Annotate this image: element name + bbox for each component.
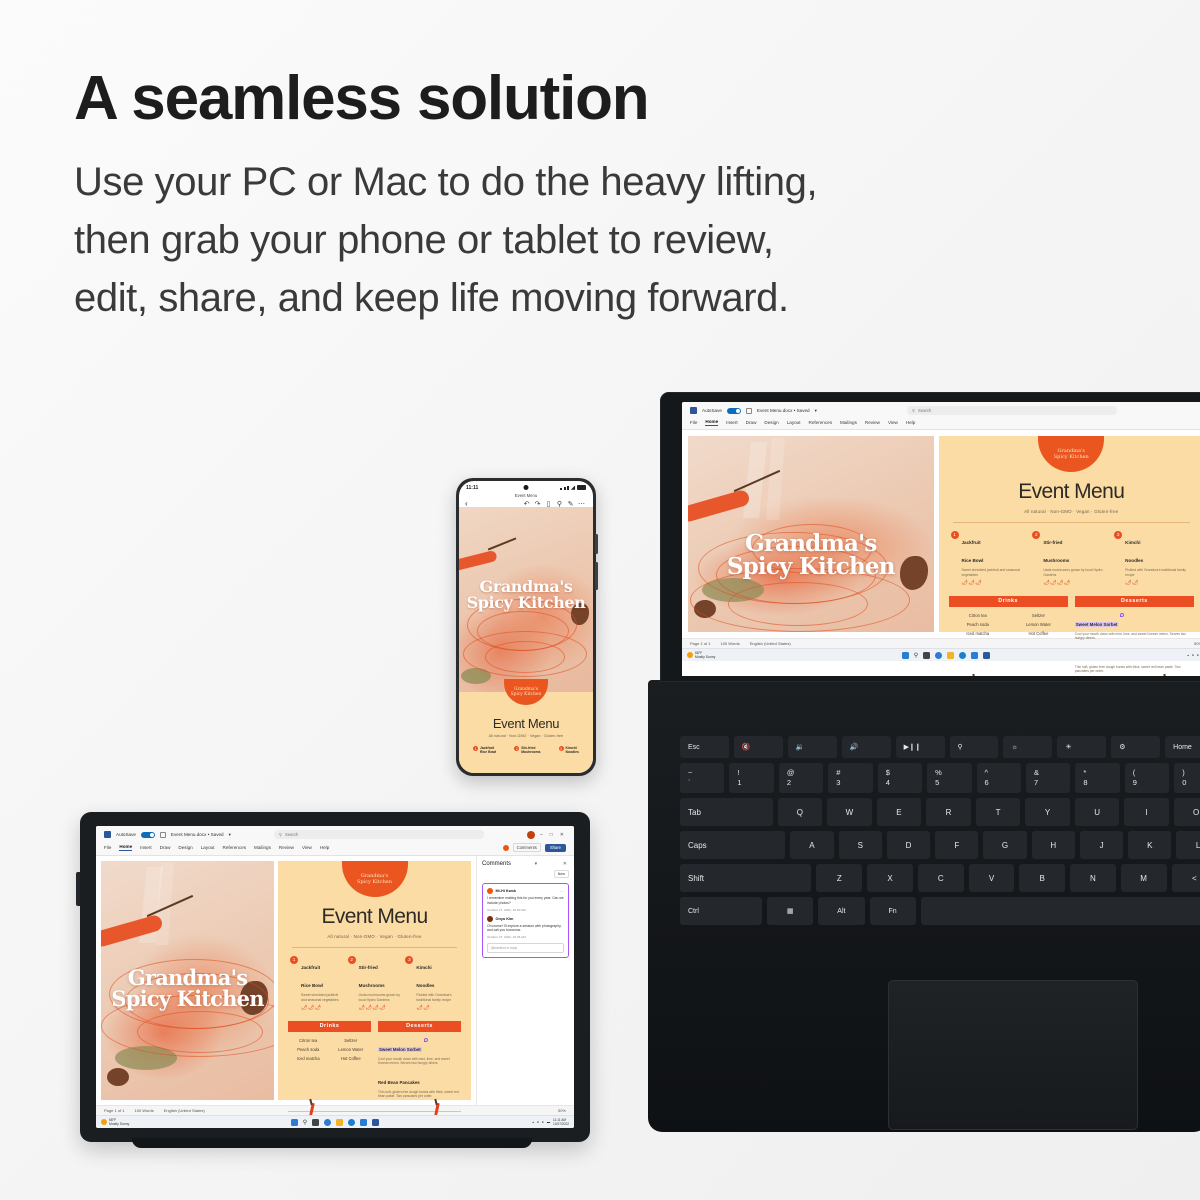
key-4[interactable]: $4 — [878, 763, 922, 793]
cover-title-line1: Grandma's — [688, 532, 934, 555]
tab-draw[interactable]: Draw — [160, 845, 171, 850]
phone-screen: 11:11 ◢ Event Menu ‹ ↶ ↷ ▯ ⚲ ✎ ⋯ — [459, 481, 593, 773]
document-name[interactable]: Event Menu.docx • Saved — [757, 408, 810, 413]
key-1[interactable]: !1 — [729, 763, 773, 793]
list-item: 2 Stir-friedMushrooms Usda mushrooms gro… — [1032, 531, 1110, 586]
tab-layout[interactable]: Layout — [787, 420, 801, 425]
key-y[interactable]: Y — [1025, 798, 1070, 826]
comment-thread[interactable]: Mi-Hi Kwok ⋯ I remember making this for … — [482, 883, 569, 958]
key-i[interactable]: I — [1124, 798, 1169, 826]
close-icon[interactable]: ✕ — [563, 861, 569, 867]
list-item: 1 JackfruitRice Bowl — [473, 746, 496, 755]
hero-text-block: A seamless solution Use your PC or Mac t… — [74, 66, 1034, 327]
divider — [953, 522, 1191, 523]
weather-desc: Mostly Sunny — [109, 1122, 129, 1126]
menu-title: Event Menu — [459, 716, 593, 731]
key-s[interactable]: S — [839, 831, 882, 859]
autosave-toggle[interactable] — [141, 832, 155, 838]
key-8[interactable]: *8 — [1075, 763, 1119, 793]
zoom-level[interactable]: 50% — [1194, 641, 1200, 646]
search-icon: ⚲ — [912, 408, 915, 413]
key-x[interactable]: X — [867, 864, 913, 892]
system-tray[interactable]: ▴ ● ● ▬ — [1187, 653, 1200, 657]
comment-anchor-icon[interactable] — [424, 1038, 428, 1042]
network-icon[interactable]: ● — [537, 1120, 539, 1124]
word-logo-icon — [690, 407, 697, 414]
word-document-canvas[interactable]: Grandma's Spicy Kitchen Grandma's Spicy … — [682, 430, 1200, 638]
keyboard-row-numbers: ~`!1@2#3$4%5^6&7*8(9)0—- — [680, 763, 1200, 793]
tab-insert[interactable]: Insert — [140, 845, 152, 850]
collaborator-avatar[interactable] — [503, 845, 509, 851]
list-item: Iced matcha — [288, 1056, 329, 1061]
key-esc[interactable]: Esc — [680, 736, 729, 758]
key-n[interactable]: N — [1070, 864, 1116, 892]
key-play-pause[interactable]: ▶❙❙ — [896, 736, 945, 758]
signal-bars-icon — [560, 486, 569, 490]
brand-badge: Grandma's Spicy Kitchen — [504, 679, 548, 705]
dish-heat-rating: 🌶🌶 — [1125, 580, 1192, 586]
list-item: 2 Stir-friedMushrooms — [514, 746, 540, 755]
reply-timestamp: October 27, 2022, 10:45 AM — [487, 935, 564, 939]
key-mute[interactable]: 🔇 — [734, 736, 783, 758]
key-alt[interactable]: Alt — [818, 897, 864, 925]
key-g[interactable]: G — [983, 831, 1026, 859]
window-controls: – □ ✕ — [527, 831, 566, 839]
keyboard-row-function: Esc🔇🔉🔊▶❙❙⚲☼☀⚙HomeEnd — [680, 736, 1200, 758]
autosave-label: AutoSave — [702, 408, 722, 413]
list-item: 2 Stir-friedMushrooms Usda mushrooms gro… — [348, 956, 402, 1011]
laptop-base: Esc🔇🔉🔊▶❙❙⚲☼☀⚙HomeEnd~`!1@2#3$4%5^6&7*8(9… — [648, 680, 1200, 1132]
dish-number: 1 — [951, 531, 959, 539]
store-icon[interactable] — [360, 1119, 367, 1126]
key-m[interactable]: M — [1121, 864, 1167, 892]
close-button[interactable]: ✕ — [560, 832, 566, 838]
file-explorer-icon[interactable] — [336, 1119, 343, 1126]
dish-number: 2 — [1032, 531, 1040, 539]
drinks-heading: Drinks — [949, 596, 1068, 607]
drinks-column: Drinks Citron tea Seltzer Peach soda Lem… — [949, 596, 1068, 674]
dessert-description: Cool your mouth down with mint, lime, an… — [1075, 632, 1194, 641]
list-item: Citron tea — [949, 613, 1008, 618]
key-5[interactable]: %5 — [927, 763, 971, 793]
list-item: Iced matcha — [949, 631, 1008, 636]
autosave-label: AutoSave — [116, 832, 136, 837]
dish-description: Usda mushrooms grown by local Hydro Gard… — [359, 993, 402, 1002]
laptop-screen: AutoSave Event Menu.docx • Saved ▾ ⚲ Sea… — [682, 402, 1200, 676]
dish-number: 2 — [514, 746, 519, 751]
tab-layout[interactable]: Layout — [201, 845, 215, 850]
tab-help[interactable]: Help — [320, 845, 329, 850]
dessert-description: Cool your mouth down with mint, lime, an… — [378, 1057, 461, 1066]
hero-subhead: Use your PC or Mac to do the heavy lifti… — [74, 153, 1034, 327]
comment-author: Mi-Hi Kwok — [496, 889, 516, 893]
save-icon[interactable] — [746, 408, 752, 414]
edge-icon[interactable] — [959, 652, 966, 659]
tab-file[interactable]: File — [104, 845, 111, 850]
list-item: Hot Coffee — [331, 1056, 372, 1061]
dish-number: 3 — [1114, 531, 1122, 539]
more-options-icon[interactable]: ⋯ — [560, 889, 564, 894]
laptop-device: Esc🔇🔉🔊▶❙❙⚲☼☀⚙HomeEnd~`!1@2#3$4%5^6&7*8(9… — [648, 392, 1200, 1172]
desserts-heading: Desserts — [1075, 596, 1194, 607]
brand-badge: Grandma's Spicy Kitchen — [1038, 436, 1104, 472]
task-view-icon[interactable] — [923, 652, 930, 659]
tab-help[interactable]: Help — [906, 420, 915, 425]
key-brightness-up[interactable]: ☀ — [1057, 736, 1106, 758]
dish-name-line2: Mushrooms — [359, 983, 385, 988]
keyboard-row-modifiers: Ctrl▦AltFnAlt — [680, 897, 1200, 925]
key-k[interactable]: K — [1128, 831, 1171, 859]
battery-icon — [577, 485, 586, 490]
key-u[interactable]: U — [1075, 798, 1120, 826]
word-document-canvas[interactable]: Grandma's Spicy Kitchen Grandma's Spicy … — [96, 856, 476, 1105]
weather-widget[interactable]: 68°FMostly Sunny — [687, 651, 715, 659]
new-comment-button[interactable]: New — [554, 870, 569, 878]
search-icon[interactable]: ⚲ — [914, 652, 918, 659]
list-item: Red Bean Pancakes Thin soft, gluten-free… — [378, 1071, 461, 1099]
menu-cover-image: Grandma's Spicy Kitchen — [459, 507, 593, 692]
dish-number: 1 — [290, 956, 298, 964]
menu-columns: Drinks Citron tea Seltzer Peach soda Lem… — [288, 1021, 461, 1099]
collapse-icon[interactable]: ▾ — [535, 861, 540, 867]
key-`[interactable]: ~` — [680, 763, 724, 793]
windows-taskbar: 68°FMostly Sunny ⚲ ▴ ● ● ▬ — [96, 1115, 574, 1128]
zoom-level[interactable]: 50% — [558, 1108, 566, 1113]
badge-line2: Spicy Kitchen — [511, 692, 542, 697]
dessert-description: Thin soft, gluten-free dough bursts with… — [1075, 665, 1194, 674]
volume-icon[interactable]: ● — [1197, 653, 1199, 657]
key-volume-down[interactable]: 🔉 — [788, 736, 837, 758]
decor-stick — [488, 537, 516, 550]
key-brightness-down[interactable]: ☼ — [1003, 736, 1052, 758]
menu-page: Grandma's Spicy Kitchen Event Menu All n… — [459, 692, 593, 773]
key-e[interactable]: E — [877, 798, 922, 826]
maximize-button[interactable]: □ — [550, 832, 555, 838]
list-item: Peach soda — [288, 1047, 329, 1052]
list-item: 1 JackfruitRice Bowl Sweet shredded jack… — [290, 956, 344, 1011]
tab-mailings[interactable]: Mailings — [254, 845, 271, 850]
comment-author-row: Mi-Hi Kwok ⋯ — [487, 888, 564, 894]
weather-desc: Mostly Sunny — [695, 655, 715, 659]
word-icon[interactable] — [372, 1119, 379, 1126]
dish-name-line2: Noodles — [416, 983, 434, 988]
start-icon[interactable] — [902, 652, 909, 659]
search-input[interactable]: ⚲ Search — [274, 830, 484, 839]
key-z[interactable]: Z — [816, 864, 862, 892]
dish-heat-rating: 🌶🌶🌶🌶 — [359, 1005, 402, 1011]
dish-name-line2: Rice Bowl — [301, 983, 323, 988]
badge-line2: Spicy Kitchen — [1054, 454, 1089, 460]
dish-number: 1 — [473, 746, 478, 751]
phone-volume-button[interactable] — [595, 534, 598, 554]
key-caps[interactable]: Caps — [680, 831, 785, 859]
search-icon[interactable]: ⚲ — [303, 1119, 307, 1126]
reply-author: Onyu Kim — [496, 917, 514, 921]
dish-description: Usda mushrooms grown by local Hydro Gard… — [1043, 568, 1110, 577]
list-item: Seltzer — [1009, 613, 1068, 618]
list-item: 3 KimchiNoodles — [559, 746, 579, 755]
tab-review[interactable]: Review — [865, 420, 880, 425]
chevron-down-icon[interactable]: ▾ — [815, 408, 817, 414]
menu-tags: All natural · Non-GMO · Vegan · Gluten-f… — [288, 934, 461, 939]
menu-tags: All natural · Non-GMO · Vegan · Gluten-f… — [949, 509, 1195, 514]
dish-name-line1: Kimchi — [416, 965, 431, 970]
chevron-down-icon[interactable]: ▾ — [229, 832, 231, 838]
reply-input[interactable]: @mention or reply — [487, 943, 564, 953]
chevron-up-icon[interactable]: ▴ — [1187, 653, 1189, 657]
language-indicator[interactable]: English (United States) — [164, 1108, 205, 1113]
sun-icon — [687, 652, 693, 658]
list-item: Lemon Water — [331, 1047, 372, 1052]
clock-date[interactable]: 10/27/2022 — [553, 1122, 569, 1126]
cover-title: Grandma's Spicy Kitchen — [101, 967, 274, 1009]
tab-review[interactable]: Review — [279, 845, 294, 850]
tablet-screen: AutoSave Event Menu.docx • Saved ▾ ⚲ Sea… — [96, 826, 574, 1128]
key-d[interactable]: D — [887, 831, 930, 859]
laptop-keyboard[interactable]: Esc🔇🔉🔊▶❙❙⚲☼☀⚙HomeEnd~`!1@2#3$4%5^6&7*8(9… — [680, 736, 1200, 925]
avatar — [487, 916, 493, 922]
document-name[interactable]: Event Menu.docx • Saved — [171, 832, 224, 837]
tablet-body: AutoSave Event Menu.docx • Saved ▾ ⚲ Sea… — [80, 812, 590, 1142]
keyboard-row-qwerty: TabQWERTYUIOP — [680, 798, 1200, 826]
cover-title: Grandma's Spicy Kitchen — [688, 532, 934, 578]
key-h[interactable]: H — [1032, 831, 1075, 859]
dessert-name: Red Bean Pancakes — [378, 1080, 420, 1085]
network-icon[interactable]: ● — [1192, 653, 1194, 657]
list-item: Sweet Melon Sorbet Cool your mouth down … — [1075, 613, 1194, 641]
dish-name-line2: Mushrooms — [1043, 558, 1069, 563]
page-indicator[interactable]: Page 1 of 1 — [104, 1108, 124, 1113]
keyboard-row-asdf: CapsASDFGHJKL; — [680, 831, 1200, 859]
key-v[interactable]: V — [969, 864, 1015, 892]
comments-panel-header: Comments ▾ ✕ — [482, 861, 569, 867]
tab-references[interactable]: References — [223, 845, 247, 850]
cover-title: Grandma's Spicy Kitchen — [459, 579, 593, 612]
store-icon[interactable] — [971, 652, 978, 659]
start-icon[interactable] — [291, 1119, 298, 1126]
list-item: 3 KimchiNoodles Pickled with Grandma's t… — [405, 956, 459, 1011]
word-count[interactable]: 100 Words — [720, 641, 739, 646]
key-j[interactable]: J — [1080, 831, 1123, 859]
decor-chili-arm — [688, 489, 751, 524]
key-q[interactable]: Q — [778, 798, 823, 826]
battery-icon[interactable]: ▬ — [547, 1120, 550, 1124]
menu-cover-image: Grandma's Spicy Kitchen — [101, 861, 274, 1100]
phone-document-view[interactable]: Grandma's Spicy Kitchen Grandma's Spicy … — [459, 507, 593, 773]
dish-number: 2 — [348, 956, 356, 964]
tab-home[interactable]: Home — [119, 844, 132, 851]
list-item: Citron tea — [288, 1038, 329, 1043]
search-placeholder: Search — [918, 408, 931, 413]
dish-number: 3 — [405, 956, 413, 964]
key-2[interactable]: @2 — [779, 763, 823, 793]
tab-design[interactable]: Design — [178, 845, 192, 850]
comments-panel-title: Comments — [482, 861, 511, 867]
dish-description: Pickled with Grandma's traditional famil… — [416, 993, 459, 1002]
key-o[interactable]: O — [1174, 798, 1200, 826]
menu-page: Grandma's Spicy Kitchen Event Menu All n… — [939, 436, 1200, 632]
word-icon[interactable] — [983, 652, 990, 659]
dish-name-line2: Rice Bowl — [480, 750, 496, 754]
edge-icon[interactable] — [348, 1119, 355, 1126]
laptop-trackpad[interactable] — [888, 980, 1138, 1130]
list-item: Seltzer — [331, 1038, 372, 1043]
subhead-line-1: Use your PC or Mac to do the heavy lifti… — [74, 153, 1034, 211]
key-[interactable]: < — [1172, 864, 1200, 892]
autosave-toggle[interactable] — [727, 408, 741, 414]
key-l[interactable]: L — [1176, 831, 1200, 859]
word-ribbon-tabs: File Home Insert Draw Design Layout Refe… — [96, 841, 574, 856]
key-c[interactable]: C — [918, 864, 964, 892]
drinks-column: Drinks Citron tea Seltzer Peach soda Lem… — [288, 1021, 371, 1099]
tab-view[interactable]: View — [302, 845, 312, 850]
key-windows[interactable]: ▦ — [767, 897, 813, 925]
document-spread: Grandma's Spicy Kitchen Grandma's Spicy … — [682, 430, 1200, 638]
badge-line2: Spicy Kitchen — [357, 879, 392, 885]
key-home[interactable]: Home — [1165, 736, 1200, 758]
dish-name-line2: Noodles — [1125, 558, 1143, 563]
dessert-name-highlighted: Sweet Melon Sorbet — [1075, 622, 1119, 627]
laptop-lid: AutoSave Event Menu.docx • Saved ▾ ⚲ Sea… — [660, 392, 1200, 682]
word-count[interactable]: 100 Words — [134, 1108, 153, 1113]
key-fn[interactable]: Fn — [870, 897, 916, 925]
key-shift[interactable]: Shift — [680, 864, 811, 892]
subhead-line-2: then grab your phone or tablet to review… — [74, 211, 1034, 269]
key-w[interactable]: W — [827, 798, 872, 826]
dish-description: Sweet shredded jackfruit and seasonal ve… — [962, 568, 1029, 577]
comment-anchor-icon[interactable] — [1120, 613, 1124, 617]
key-a[interactable]: A — [790, 831, 833, 859]
key-6[interactable]: ^6 — [977, 763, 1021, 793]
dish-name-line1: Jackfruit — [301, 965, 320, 970]
brand-badge: Grandma's Spicy Kitchen — [342, 861, 408, 897]
dish-heat-rating: 🌶🌶🌶 — [962, 580, 1029, 586]
phone-camera-notch — [524, 485, 529, 490]
tab-draw[interactable]: Draw — [746, 420, 757, 425]
dish-name-line1: Stir-fried — [1043, 540, 1062, 545]
menu-title: Event Menu — [288, 905, 461, 929]
tab-mailings[interactable]: Mailings — [840, 420, 857, 425]
menu-cover-image: Grandma's Spicy Kitchen — [688, 436, 934, 632]
comments-button[interactable]: Comments — [513, 843, 541, 852]
list-item: Sweet Melon Sorbet Cool your mouth down … — [378, 1038, 461, 1066]
word-title-bar: AutoSave Event Menu.docx • Saved ▾ ⚲ Sea… — [96, 826, 574, 841]
system-tray[interactable]: ▴ ● ● ▬ 11:11 AM10/27/2022 — [532, 1118, 569, 1126]
cover-title-line2: Spicy Kitchen — [101, 988, 274, 1009]
chevron-up-icon[interactable]: ▴ — [532, 1120, 534, 1124]
tablet-device: AutoSave Event Menu.docx • Saved ▾ ⚲ Sea… — [80, 812, 590, 1142]
chat-icon[interactable] — [935, 652, 942, 659]
dish-heat-rating: 🌶🌶🌶🌶 — [1043, 580, 1110, 586]
key-3[interactable]: #3 — [828, 763, 872, 793]
key-search[interactable]: ⚲ — [950, 736, 999, 758]
menu-columns: Drinks Citron tea Seltzer Peach soda Lem… — [949, 596, 1195, 674]
dish-name-line1: Stir-fried — [359, 965, 378, 970]
list-item: 1 JackfruitRice Bowl Sweet shredded jack… — [951, 531, 1029, 586]
reply-text: Of course! I'll explore a session with p… — [487, 924, 564, 934]
subhead-line-3: edit, share, and keep life moving forwar… — [74, 269, 1034, 327]
chat-icon[interactable] — [324, 1119, 331, 1126]
key-9[interactable]: (9 — [1125, 763, 1169, 793]
dish-number: 3 — [559, 746, 564, 751]
page-indicator[interactable]: Page 1 of 1 — [690, 641, 710, 646]
sun-icon — [101, 1119, 107, 1125]
avatar[interactable] — [527, 831, 535, 839]
dessert-name-highlighted: Sweet Melon Sorbet — [378, 1047, 422, 1052]
decor-chili-arm — [459, 550, 498, 571]
volume-icon[interactable]: ● — [542, 1120, 544, 1124]
keyboard-row-zxcv: ShiftZXCVBNM<> — [680, 864, 1200, 892]
key-ctrl[interactable]: Ctrl — [680, 897, 762, 925]
menu-dish-list: 1 JackfruitRice Bowl Sweet shredded jack… — [288, 956, 461, 1011]
dish-description: Pickled with Grandma's traditional famil… — [1125, 568, 1192, 577]
tab-file[interactable]: File — [690, 420, 697, 425]
key-r[interactable]: R — [926, 798, 971, 826]
key-f[interactable]: F — [935, 831, 978, 859]
key-space[interactable] — [921, 897, 1200, 925]
key-tab[interactable]: Tab — [680, 798, 773, 826]
dish-name-line2: Mushrooms — [521, 750, 540, 754]
key-t[interactable]: T — [976, 798, 1021, 826]
tab-references[interactable]: References — [809, 420, 833, 425]
key-7[interactable]: &7 — [1026, 763, 1070, 793]
list-item: Hot Coffee — [1009, 631, 1068, 636]
list-item: 3 KimchiNoodles Pickled with Grandma's t… — [1114, 531, 1192, 586]
list-item: Lemon Water — [1009, 622, 1068, 627]
weather-widget[interactable]: 68°FMostly Sunny — [101, 1118, 129, 1126]
dish-name-line2: Rice Bowl — [962, 558, 984, 563]
drinks-heading: Drinks — [288, 1021, 371, 1032]
cover-title-line2: Spicy Kitchen — [688, 555, 934, 578]
key-0[interactable]: )0 — [1174, 763, 1200, 793]
phone-power-button[interactable] — [595, 562, 598, 590]
file-explorer-icon[interactable] — [947, 652, 954, 659]
minimize-button[interactable]: – — [540, 832, 545, 838]
tab-view[interactable]: View — [888, 420, 898, 425]
save-icon[interactable] — [160, 832, 166, 838]
comment-timestamp: October 27, 2022, 10:30 AM — [487, 908, 564, 912]
tablet-main-area: Grandma's Spicy Kitchen Grandma's Spicy … — [96, 856, 574, 1105]
dish-name-line1: Kimchi — [1125, 540, 1140, 545]
list-item: Peach soda — [949, 622, 1008, 627]
drinks-list: Citron tea Seltzer Peach soda Lemon Wate… — [949, 613, 1068, 636]
tab-home[interactable]: Home — [705, 419, 718, 426]
search-input[interactable]: ⚲ Search — [907, 406, 1117, 415]
menu-dish-list: 1 JackfruitRice Bowl Sweet shredded jack… — [949, 531, 1195, 586]
key-settings[interactable]: ⚙ — [1111, 736, 1160, 758]
key-b[interactable]: B — [1019, 864, 1065, 892]
taskbar-icons: ⚲ — [291, 1119, 379, 1126]
search-icon: ⚲ — [279, 832, 282, 837]
share-button[interactable]: Share — [545, 844, 566, 852]
divider — [292, 947, 457, 948]
comment-text: I remember making this for you every yea… — [487, 896, 564, 906]
tab-design[interactable]: Design — [764, 420, 778, 425]
tab-insert[interactable]: Insert — [726, 420, 738, 425]
decor-brown-blob-2 — [107, 1068, 129, 1086]
language-indicator[interactable]: English (United States) — [750, 641, 791, 646]
key-volume-up[interactable]: 🔊 — [842, 736, 891, 758]
dish-description: Sweet shredded jackfruit and seasonal ve… — [301, 993, 344, 1002]
cover-title-line2: Spicy Kitchen — [459, 595, 593, 611]
phone-clock: 11:11 — [466, 485, 478, 491]
task-view-icon[interactable] — [312, 1119, 319, 1126]
search-placeholder: Search — [285, 832, 298, 837]
taskbar-icons: ⚲ — [902, 652, 990, 659]
dish-name-line1: Jackfruit — [962, 540, 981, 545]
menu-title: Event Menu — [949, 480, 1195, 504]
reply-author-row: Onyu Kim — [487, 916, 564, 922]
